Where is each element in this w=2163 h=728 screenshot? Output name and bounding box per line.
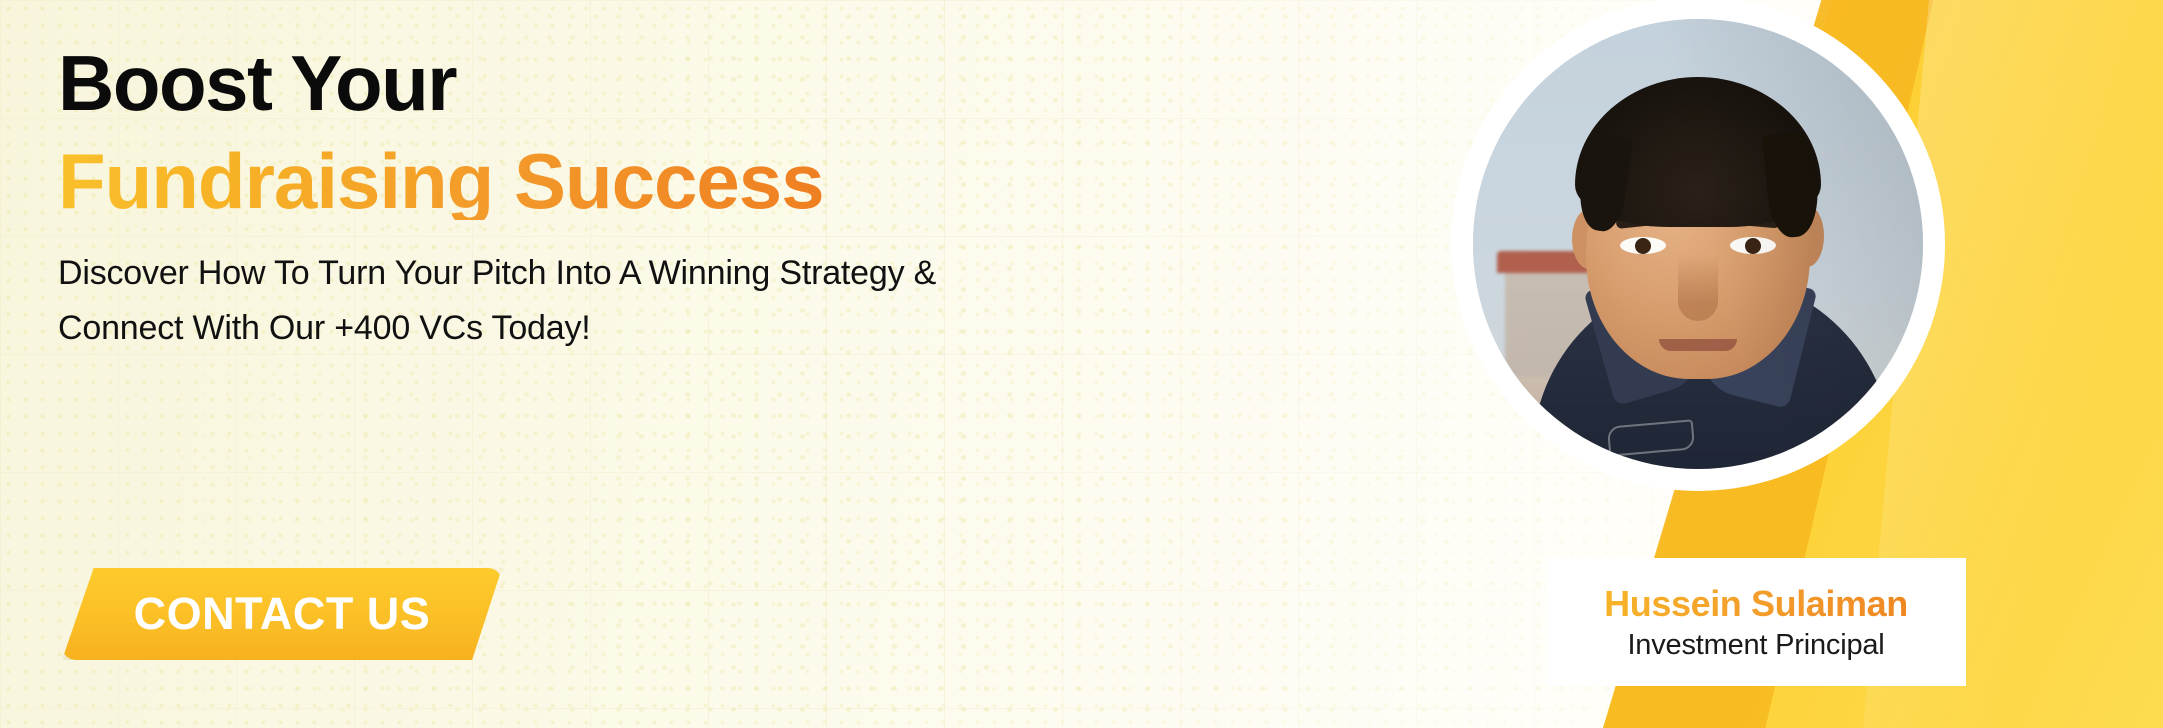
portrait-photo [1473,19,1923,469]
person-name-card: Hussein Sulaiman Investment Principal [1546,558,1966,686]
headline-primary: Boost Your [58,44,456,122]
subtitle: Discover How To Turn Your Pitch Into A W… [58,246,1068,356]
promo-banner: Boost Your Fundraising Success Discover … [0,0,2163,728]
avatar [1462,8,1934,480]
person-role: Investment Principal [1627,629,1884,662]
photo-shadow-overlay [1473,19,1923,469]
subtitle-line-1: Discover How To Turn Your Pitch Into A W… [58,254,936,292]
subtitle-line-2: Connect With Our +400 VCs Today! [58,301,1068,356]
person-name: Hussein Sulaiman [1604,583,1908,625]
headline-accent: Fundraising Success [58,142,824,220]
contact-us-button[interactable]: CONTACT US [62,568,502,660]
